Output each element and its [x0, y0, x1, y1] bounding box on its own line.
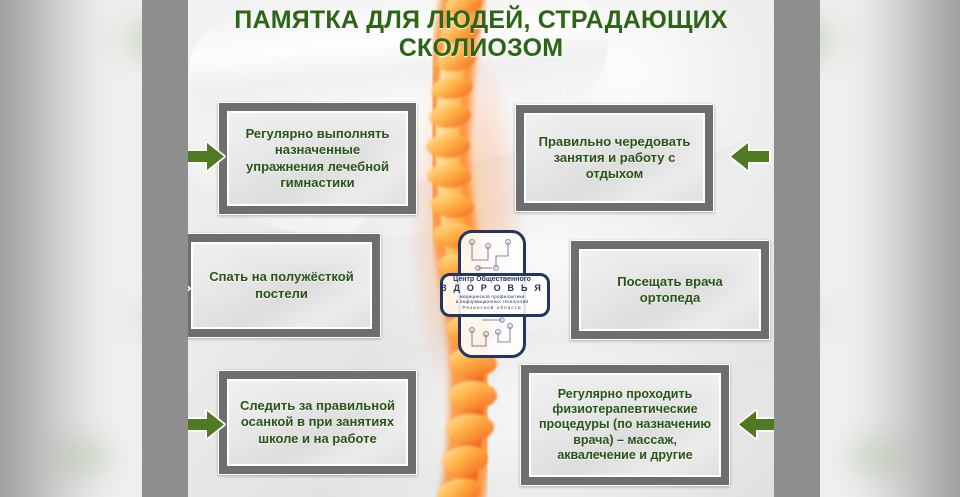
tip-text-posture: Следить за правильной осанкой в при заня… [229, 394, 406, 451]
arrow-right-posture-icon [188, 408, 227, 441]
tip-box-physio[interactable]: Регулярно проходить физиотерапевтические… [520, 364, 730, 486]
tip-box-inner: Правильно чередовать занятия и работу с … [524, 113, 705, 203]
arrow-left-physio-icon [736, 408, 774, 441]
tip-box-exercise[interactable]: Регулярно выполнять назначенные упражнен… [218, 102, 417, 215]
logo-line-1: Центр Общественного [453, 276, 531, 283]
tip-box-posture[interactable]: Следить за правильной осанкой в при заня… [218, 370, 417, 475]
tip-box-doctor[interactable]: Посещать врача ортопеда [570, 240, 770, 340]
page-title-line2: СКОЛИОЗОМ [188, 34, 774, 62]
logo-line-5: Рязанской области [462, 305, 521, 310]
tip-text-exercise: Регулярно выполнять назначенные упражнен… [229, 122, 406, 195]
logo-line-2: З Д О Р О В Ь Я [441, 283, 543, 294]
tip-text-physio: Регулярно проходить физиотерапевтические… [531, 383, 719, 467]
tip-box-alternate[interactable]: Правильно чередовать занятия и работу с … [515, 104, 714, 212]
medical-cross-logo: Центр Общественного З Д О Р О В Ь Я меди… [458, 230, 526, 358]
tip-box-inner: Посещать врача ортопеда [579, 249, 761, 331]
tip-text-bed: Спать на полужёсткой постели [193, 265, 370, 306]
logo-text: Центр Общественного З Д О Р О В Ь Я меди… [436, 270, 548, 316]
page-title-line1: ПАМЯТКА ДЛЯ ЛЮДЕЙ, СТРАДАЮЩИХ [188, 6, 774, 34]
slide-stage: ПАМЯТКА ДЛЯ ЛЮДЕЙ, СТРАДАЮЩИХ СКОЛИОЗОМ … [0, 0, 960, 497]
tip-text-doctor: Посещать врача ортопеда [581, 270, 759, 311]
tip-text-alternate: Правильно чередовать занятия и работу с … [526, 130, 703, 187]
tip-box-inner: Регулярно проходить физиотерапевтические… [529, 373, 721, 477]
page-title: ПАМЯТКА ДЛЯ ЛЮДЕЙ, СТРАДАЮЩИХ СКОЛИОЗОМ [188, 6, 774, 62]
tip-box-inner: Следить за правильной осанкой в при заня… [227, 379, 408, 466]
tip-box-inner: Спать на полужёсткой постели [191, 242, 372, 329]
tip-box-bed[interactable]: Спать на полужёсткой постели [188, 233, 381, 338]
arrow-left-alternate-icon [728, 140, 772, 173]
tip-box-inner: Регулярно выполнять назначенные упражнен… [227, 111, 408, 206]
letterbox-pillar-right [774, 0, 820, 497]
infographic-slide: ПАМЯТКА ДЛЯ ЛЮДЕЙ, СТРАДАЮЩИХ СКОЛИОЗОМ … [188, 0, 774, 497]
letterbox-pillar-left [142, 0, 188, 497]
arrow-right-exercise-icon [188, 140, 227, 173]
arrow-right-bed-icon [188, 272, 192, 305]
